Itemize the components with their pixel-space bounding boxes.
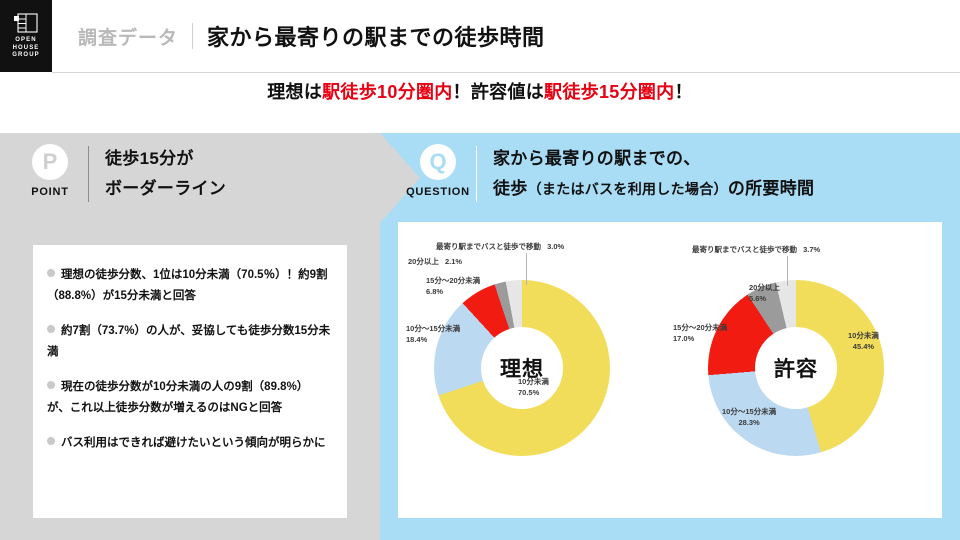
question-badge-label: QUESTION — [406, 186, 470, 198]
point-divider — [88, 146, 89, 202]
slice-value: 70.5% — [518, 387, 549, 398]
slice-label-acc-0: 10分未満 45.4% — [848, 330, 879, 352]
slide-root: OPEN HOUSE GROUP 調査データ 家から最寄りの駅までの徒歩時間 理… — [0, 0, 960, 540]
slice-value: 18.4% — [406, 334, 460, 345]
donut-hole-acceptable: 許容 — [755, 327, 837, 409]
brand-line-1: OPEN — [12, 37, 40, 45]
slice-name: 20分以上 — [408, 257, 439, 266]
donut-chart-ideal: 理想 10分未満 70.5% 10分〜15分未満 18.4% 15分〜20分未満… — [398, 222, 670, 518]
slice-label-ideal-4: 最寄り駅までバスと徒歩で移動 3.0% — [436, 241, 564, 252]
list-item: 理想の徒歩分数、1位は10分未満（70.5％）！約9割（88.8%）が15分未満… — [47, 265, 331, 307]
donut-center-label-acceptable: 許容 — [774, 353, 818, 383]
bullet-text: 現在の徒歩分数が10分未満の人の9割（89.8%）が、これ以上徒歩分数が増えるの… — [47, 381, 308, 414]
slice-label-acc-1: 10分〜15分未満 28.3% — [722, 406, 776, 428]
slice-name: 最寄り駅までバスと徒歩で移動 — [436, 242, 541, 251]
building-icon-svg — [13, 12, 39, 34]
question-title: 家から最寄りの駅までの、 徒歩（またはバスを利用した場合）の所要時間 — [493, 144, 814, 204]
leader-line-ideal — [526, 253, 527, 285]
lead-highlight-1: 駅徒歩10分圏内 — [322, 82, 452, 102]
question-title-line-1: 家から最寄りの駅までの、 — [493, 144, 814, 174]
slice-value: 3.0% — [547, 242, 564, 251]
question-title-line-2b: （またはバスを利用した場合） — [528, 181, 728, 197]
slice-value: 45.4% — [848, 341, 879, 352]
lead-part-3: ！ — [674, 82, 692, 102]
slice-name: 10分〜15分未満 — [722, 407, 776, 416]
point-title: 徒歩15分が ボーダーライン — [105, 144, 226, 204]
bullet-dot-icon — [47, 381, 55, 389]
bullet-dot-icon — [47, 437, 55, 445]
slice-value: 28.3% — [722, 417, 776, 428]
bullet-text: 理想の徒歩分数、1位は10分未満（70.5％）！約9割（88.8%）が15分未満… — [47, 269, 327, 302]
slice-name: 10分未満 — [518, 377, 549, 386]
slice-label-ideal-3: 20分以上 2.1% — [408, 256, 462, 267]
point-badge-group: P POINT — [12, 144, 88, 198]
leader-line-acceptable — [787, 256, 788, 286]
slice-name: 15分〜20分未満 — [426, 276, 480, 285]
point-bullet-card: 理想の徒歩分数、1位は10分未満（70.5％）！約9割（88.8%）が15分未満… — [33, 245, 347, 518]
question-badge-group: Q QUESTION — [400, 144, 476, 198]
question-title-line-2a: 徒歩 — [493, 179, 528, 198]
brand-logo: OPEN HOUSE GROUP — [0, 0, 52, 72]
chart-card: 理想 10分未満 70.5% 10分〜15分未満 18.4% 15分〜20分未満… — [398, 222, 942, 518]
question-title-line-2: 徒歩（またはバスを利用した場合）の所要時間 — [493, 174, 814, 204]
slice-label-acc-2: 15分〜20分未満 17.0% — [673, 322, 727, 344]
bullet-dot-icon — [47, 269, 55, 277]
slice-value: 5.6% — [749, 293, 780, 304]
slice-name: 10分未満 — [848, 331, 879, 340]
question-header: Q QUESTION 家から最寄りの駅までの、 徒歩（またはバスを利用した場合）… — [400, 144, 814, 204]
slice-value: 17.0% — [673, 333, 727, 344]
list-item: 約7割（73.7%）の人が、妥協しても徒歩分数15分未満 — [47, 321, 331, 363]
lead-part-2: ！許容値は — [453, 82, 545, 102]
slice-label-ideal-2: 15分〜20分未満 6.8% — [426, 275, 480, 297]
building-icon — [13, 12, 39, 34]
slice-name: 15分〜20分未満 — [673, 323, 727, 332]
slice-name: 最寄り駅までバスと徒歩で移動 — [692, 245, 797, 254]
slice-value: 6.8% — [426, 286, 480, 297]
point-badge-label: POINT — [31, 186, 69, 198]
point-title-line-1: 徒歩15分が — [105, 144, 226, 174]
header-bar: 調査データ 家から最寄りの駅までの徒歩時間 — [52, 0, 960, 72]
page-title: 家から最寄りの駅までの徒歩時間 — [207, 20, 545, 52]
header-divider — [192, 23, 193, 49]
brand-line-2: HOUSE — [12, 45, 40, 53]
donut-chart-acceptable: 許容 10分未満 45.4% 10分〜15分未満 28.3% 15分〜20分未満… — [670, 222, 942, 518]
list-item: バス利用はできれば避けたいという傾向が明らかに — [47, 433, 331, 454]
point-header: P POINT 徒歩15分が ボーダーライン — [12, 144, 226, 204]
question-title-line-2c: の所要時間 — [728, 179, 815, 198]
bullet-dot-icon — [47, 325, 55, 333]
slice-label-ideal-1: 10分〜15分未満 18.4% — [406, 323, 460, 345]
slice-value: 2.1% — [445, 257, 462, 266]
bullet-text: バス利用はできれば避けたいという傾向が明らかに — [61, 437, 326, 449]
slice-name: 10分〜15分未満 — [406, 324, 460, 333]
list-item: 現在の徒歩分数が10分未満の人の9割（89.8%）が、これ以上徒歩分数が増えるの… — [47, 377, 331, 419]
slice-value: 3.7% — [803, 245, 820, 254]
point-badge-icon: P — [32, 144, 68, 180]
lead-statement: 理想は駅徒歩10分圏内！許容値は駅徒歩15分圏内！ — [0, 78, 960, 104]
slice-name: 20分以上 — [749, 283, 780, 292]
brand-wordmark: OPEN HOUSE GROUP — [12, 37, 40, 60]
header-rule — [52, 72, 960, 73]
point-title-line-2: ボーダーライン — [105, 174, 226, 204]
brand-line-3: GROUP — [12, 52, 40, 60]
slice-label-ideal-0: 10分未満 70.5% — [518, 376, 549, 398]
bullet-text: 約7割（73.7%）の人が、妥協しても徒歩分数15分未満 — [47, 325, 330, 358]
charts-row: 理想 10分未満 70.5% 10分〜15分未満 18.4% 15分〜20分未満… — [398, 222, 942, 518]
lead-part-1: 理想は — [267, 82, 322, 102]
slice-label-acc-3: 20分以上 5.6% — [749, 282, 780, 304]
slice-label-acc-4: 最寄り駅までバスと徒歩で移動 3.7% — [692, 244, 820, 255]
lead-highlight-2: 駅徒歩15分圏内 — [544, 82, 674, 102]
header-eyebrow: 調査データ — [78, 23, 178, 50]
point-bullet-list: 理想の徒歩分数、1位は10分未満（70.5％）！約9割（88.8%）が15分未満… — [33, 245, 347, 454]
question-divider — [476, 146, 477, 202]
question-badge-icon: Q — [420, 144, 456, 180]
